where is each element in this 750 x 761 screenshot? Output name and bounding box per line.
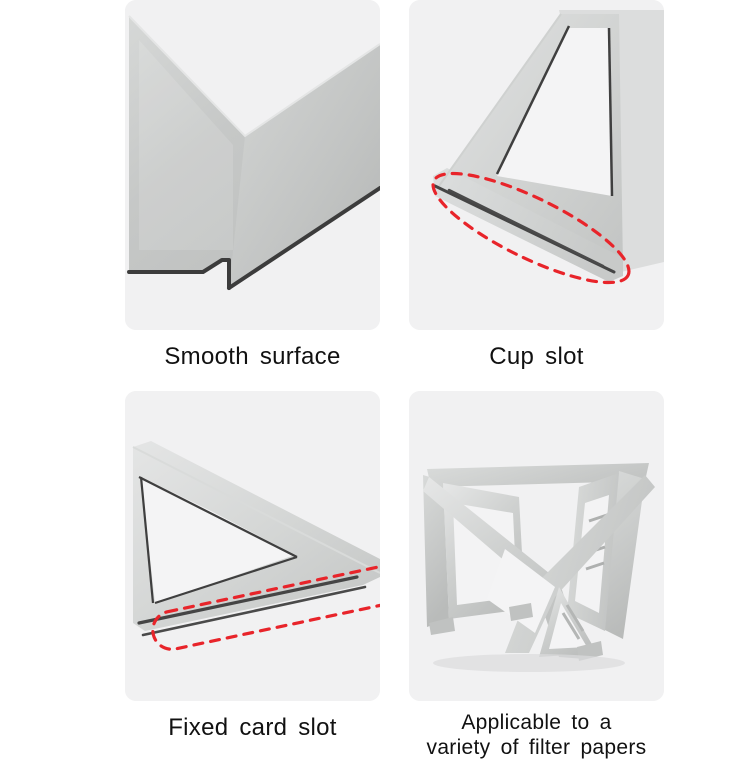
feature-cell-cup-slot: Cup slot [394, 0, 679, 371]
product-photo-fixed-card-slot [125, 391, 380, 701]
assembled-stand-illustration [409, 391, 664, 701]
cup-slot-illustration [409, 0, 664, 330]
feature-grid: Smooth surface [0, 0, 750, 750]
product-photo-cup-slot [409, 0, 664, 330]
feature-caption-fixed-card-slot: Fixed card slot [110, 715, 395, 742]
product-photo-smooth-surface [125, 0, 380, 330]
smooth-surface-illustration [125, 0, 380, 330]
feature-caption-filter-papers: Applicable to a variety of filter papers [394, 711, 679, 761]
feature-cell-fixed-card-slot: Fixed card slot [110, 391, 395, 742]
feature-caption-cup-slot: Cup slot [394, 344, 679, 371]
feature-cell-filter-papers: Applicable to a variety of filter papers [394, 391, 679, 761]
product-photo-filter-papers [409, 391, 664, 701]
feature-caption-smooth-surface: Smooth surface [110, 344, 395, 371]
fixed-card-slot-illustration [125, 391, 380, 701]
feature-cell-smooth-surface: Smooth surface [110, 0, 395, 371]
